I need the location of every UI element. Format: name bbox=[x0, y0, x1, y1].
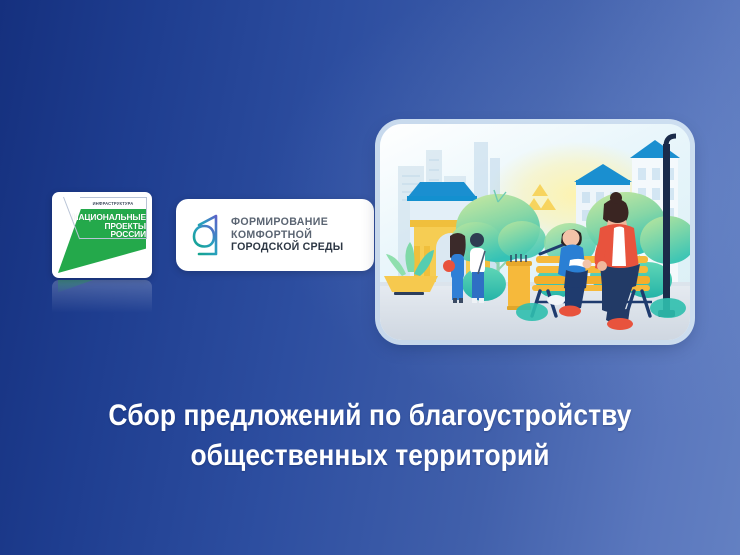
logo-row: ИНФРАСТРУКТУРА НАЦИОНАЛЬНЫЕ ПРОЕКТЫ РОСС… bbox=[52, 192, 374, 278]
logo-reflection bbox=[52, 280, 152, 322]
banner-headline: Сбор предложений по благоустройству обще… bbox=[44, 396, 695, 476]
logo-national-projects-inner: ИНФРАСТРУКТУРА НАЦИОНАЛЬНЫЕ ПРОЕКТЫ РОСС… bbox=[58, 197, 146, 273]
park-illustration-card bbox=[380, 124, 690, 340]
logo-comfortable-text-block: ФОРМИРОВАНИЕ КОМФОРТНОЙ ГОРОДСКОЙ СРЕДЫ bbox=[231, 216, 343, 254]
logo-comfortable-urban-environment[interactable]: ФОРМИРОВАНИЕ КОМФОРТНОЙ ГОРОДСКОЙ СРЕДЫ bbox=[176, 199, 374, 271]
logo-kicker-infrastructure: ИНФРАСТРУКТУРА bbox=[84, 201, 142, 206]
house-mark-icon bbox=[190, 213, 220, 257]
park-illustration bbox=[380, 124, 690, 340]
headline-line-1: Сбор предложений по благоустройству bbox=[108, 399, 631, 432]
banner-canvas: ИНФРАСТРУКТУРА НАЦИОНАЛЬНЫЕ ПРОЕКТЫ РОСС… bbox=[0, 0, 740, 555]
logo-ce-line-3: ГОРОДСКОЙ СРЕДЫ bbox=[231, 241, 343, 254]
logo-ce-line-1: ФОРМИРОВАНИЕ bbox=[231, 216, 343, 229]
logo-national-projects[interactable]: ИНФРАСТРУКТУРА НАЦИОНАЛЬНЫЕ ПРОЕКТЫ РОСС… bbox=[52, 192, 152, 278]
logo-line-3: РОССИИ bbox=[66, 230, 146, 239]
headline-line-2: общественных территорий bbox=[44, 436, 695, 476]
logo-national-projects-lines: НАЦИОНАЛЬНЫЕ ПРОЕКТЫ РОССИИ bbox=[66, 213, 146, 239]
logo-ce-line-2: КОМФОРТНОЙ bbox=[231, 229, 343, 242]
